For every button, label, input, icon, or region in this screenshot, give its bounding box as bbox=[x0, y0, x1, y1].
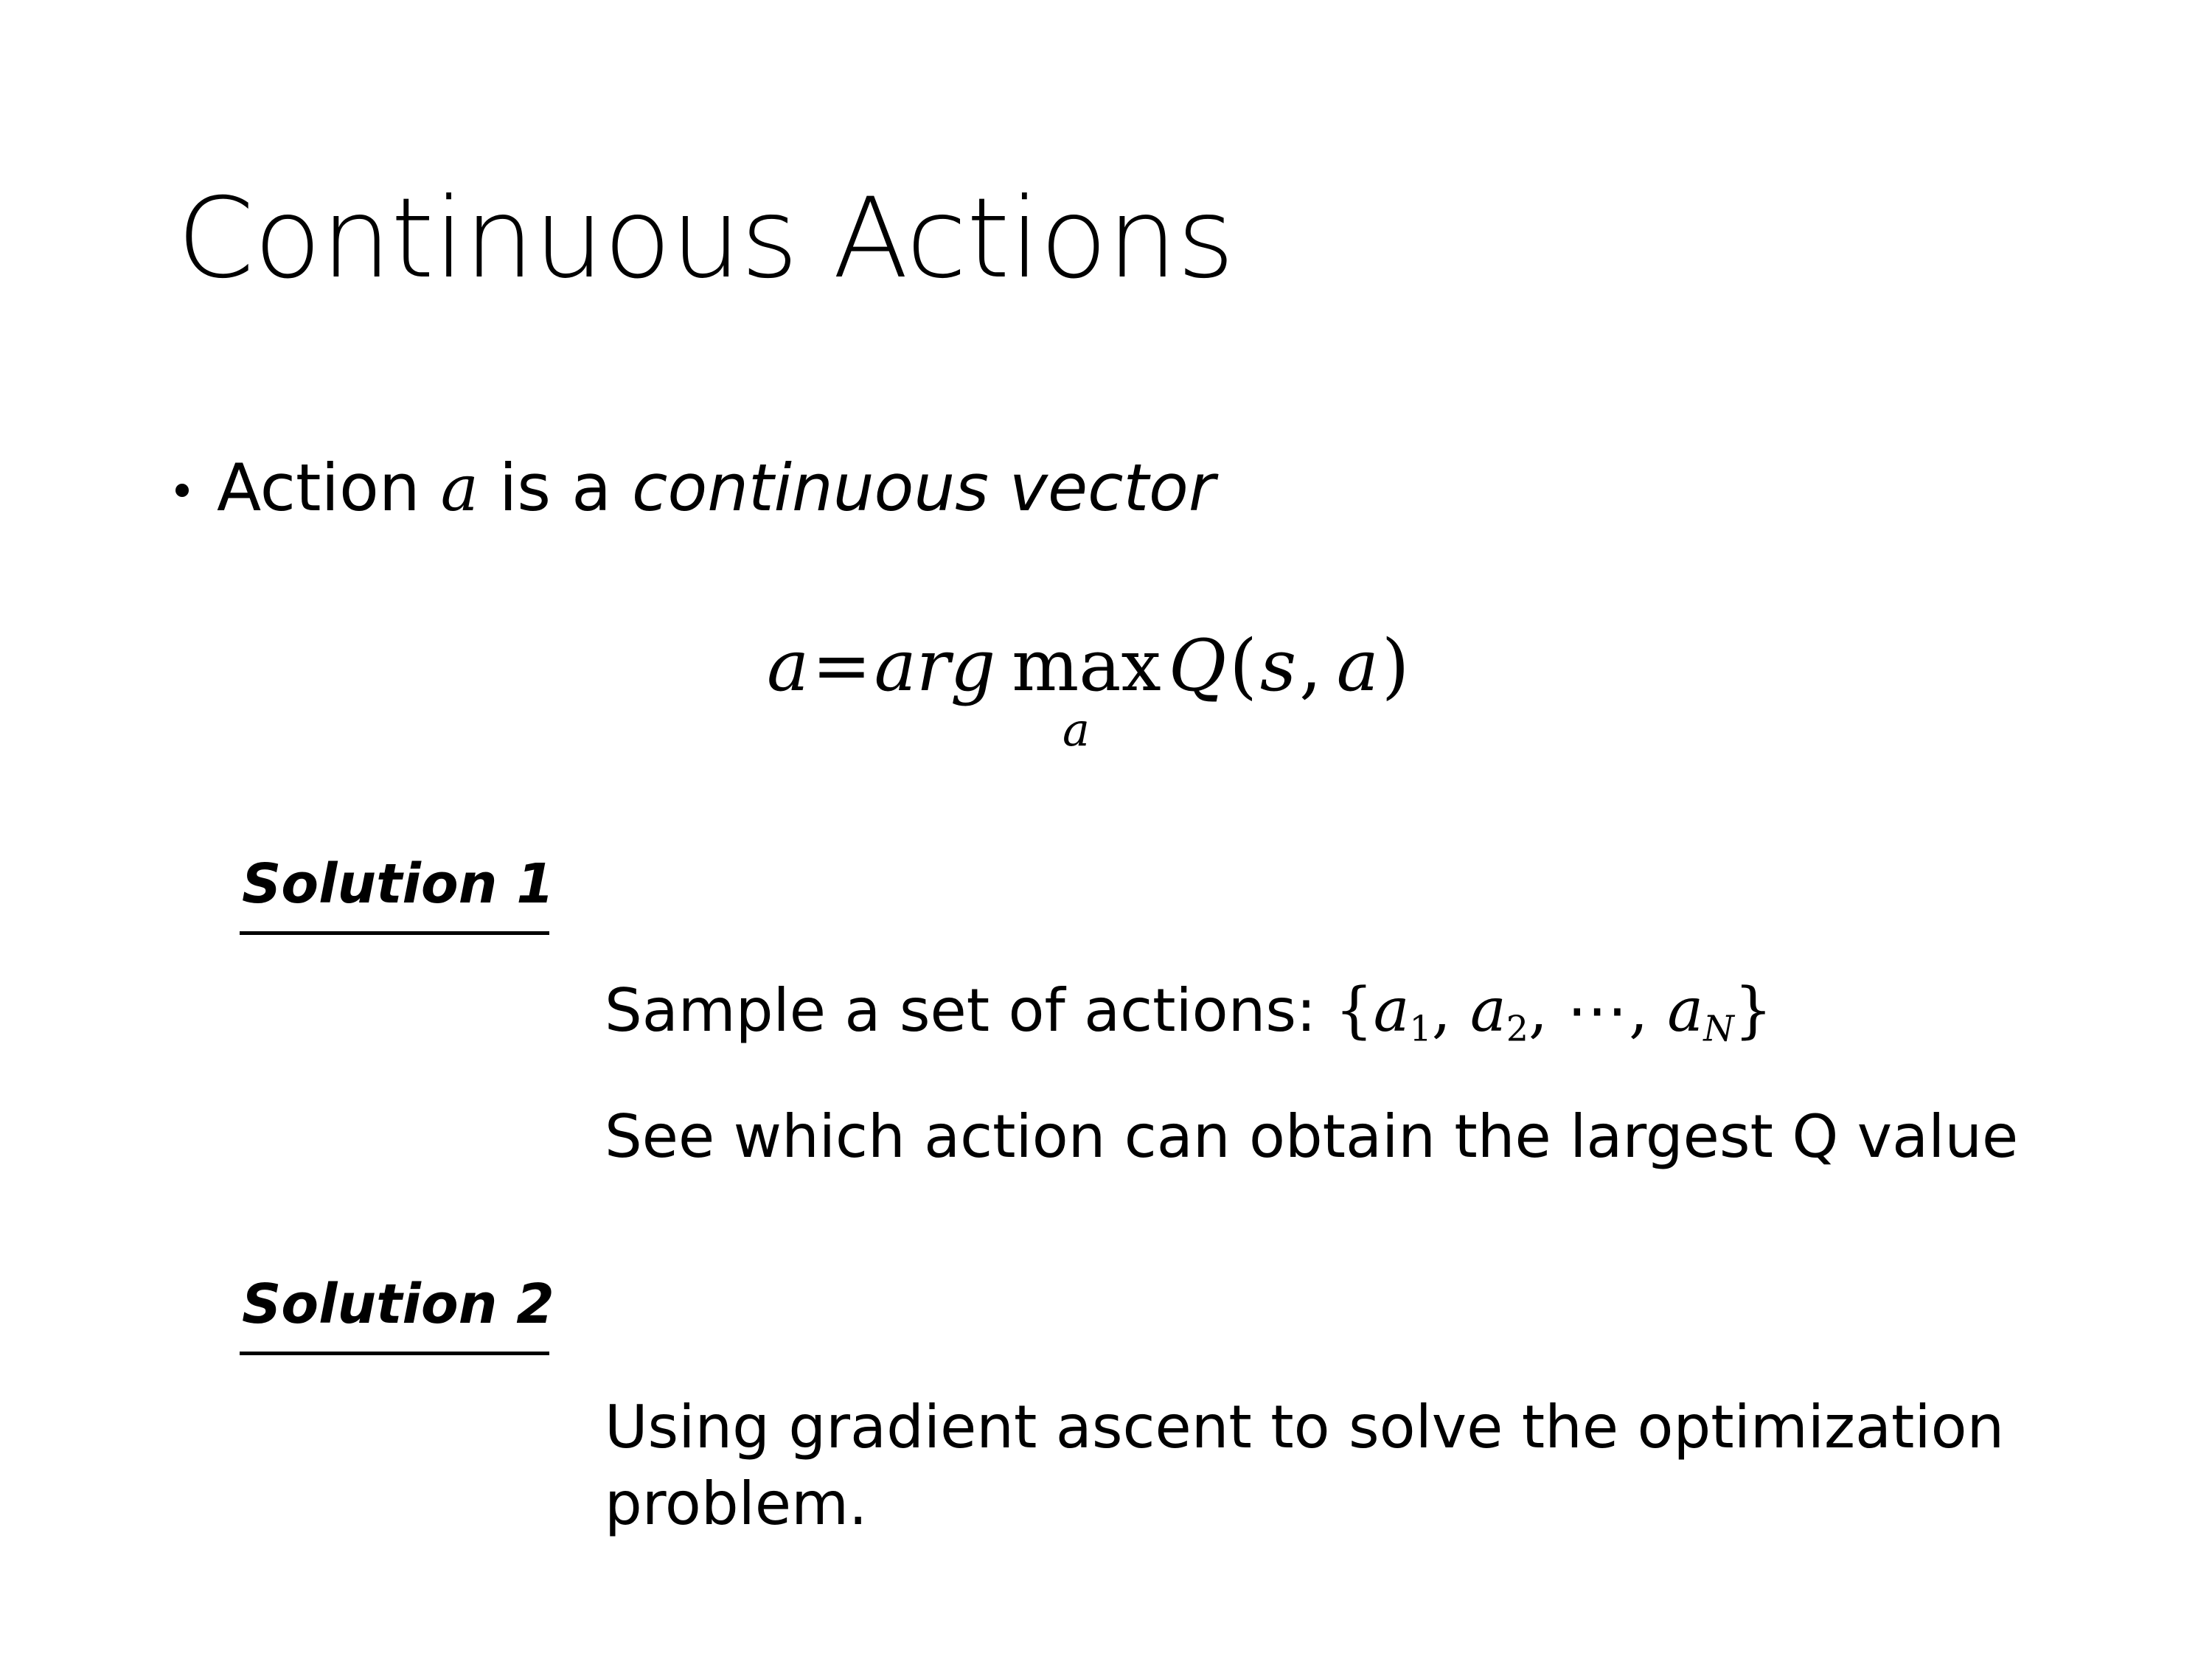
slide-canvas: Continuous Actions Action a is a continu… bbox=[0, 0, 2212, 1659]
set-separator-3: , bbox=[1629, 975, 1667, 1046]
equation-max-label: max bbox=[1012, 630, 1161, 701]
equation-argument-comma: , bbox=[1299, 630, 1322, 701]
section-heading-solution-2: Solution 2 bbox=[242, 1277, 554, 1332]
bullet-emphasis-text: continuous vector bbox=[632, 450, 1215, 526]
equation-argmax: a = arg max a Q ( s , a ) bbox=[767, 630, 1412, 753]
equation-arg-operator: arg bbox=[874, 630, 996, 701]
section-1-line-sample-actions: Sample a set of actions: {a1, a2, ⋯, aN} bbox=[605, 972, 1773, 1051]
equation-close-paren: ) bbox=[1382, 630, 1409, 701]
equation-lhs: a bbox=[767, 630, 809, 701]
bullet-variable-a: a bbox=[441, 452, 479, 526]
action-item-n-base: a bbox=[1667, 975, 1703, 1046]
action-item-n-subscript: N bbox=[1703, 1009, 1734, 1049]
equation-q-function: Q bbox=[1169, 630, 1227, 701]
page-title: Continuous Actions bbox=[177, 177, 2020, 301]
bullet-item-action: Action a is a continuous vector bbox=[175, 450, 2093, 526]
set-open-brace: { bbox=[1335, 975, 1373, 1046]
equation-max-subscript: a bbox=[1062, 707, 1090, 753]
bullet-item-label: Action a is a continuous vector bbox=[217, 450, 1215, 526]
equation-state-variable: s bbox=[1260, 630, 1296, 701]
action-item-1-base: a bbox=[1374, 975, 1410, 1046]
bullet-prefix-text: Action bbox=[217, 450, 441, 526]
bullet-marker-icon bbox=[175, 484, 189, 497]
action-item-2-base: a bbox=[1470, 975, 1506, 1046]
equation-open-paren: ( bbox=[1229, 630, 1256, 701]
equation-max-operator: max a bbox=[1012, 630, 1161, 753]
equation-equals-sign: = bbox=[812, 630, 871, 701]
section-heading-solution-2-label: Solution 2 bbox=[242, 1273, 554, 1336]
section-1-line-largest-q: See which action can obtain the largest … bbox=[605, 1099, 2018, 1175]
set-separator-2: , bbox=[1528, 975, 1567, 1046]
section-heading-solution-1: Solution 1 bbox=[242, 857, 554, 911]
action-set-notation: {a1, a2, ⋯, aN} bbox=[1335, 975, 1773, 1046]
action-item-1-subscript: 1 bbox=[1409, 1009, 1431, 1049]
set-ellipsis: ⋯ bbox=[1567, 975, 1629, 1046]
section-2-line-gradient-ascent: Using gradient ascent to solve the optim… bbox=[605, 1389, 2079, 1543]
sample-actions-prefix: Sample a set of actions: bbox=[605, 976, 1335, 1045]
section-heading-solution-1-label: Solution 1 bbox=[242, 852, 554, 916]
section-heading-underline bbox=[240, 1352, 549, 1355]
set-separator-1: , bbox=[1432, 975, 1470, 1046]
bullet-middle-text: is a bbox=[479, 450, 632, 526]
equation-action-variable: a bbox=[1337, 630, 1379, 701]
section-heading-underline bbox=[240, 931, 549, 935]
action-item-2-subscript: 2 bbox=[1506, 1009, 1528, 1049]
set-close-brace: } bbox=[1734, 975, 1773, 1046]
